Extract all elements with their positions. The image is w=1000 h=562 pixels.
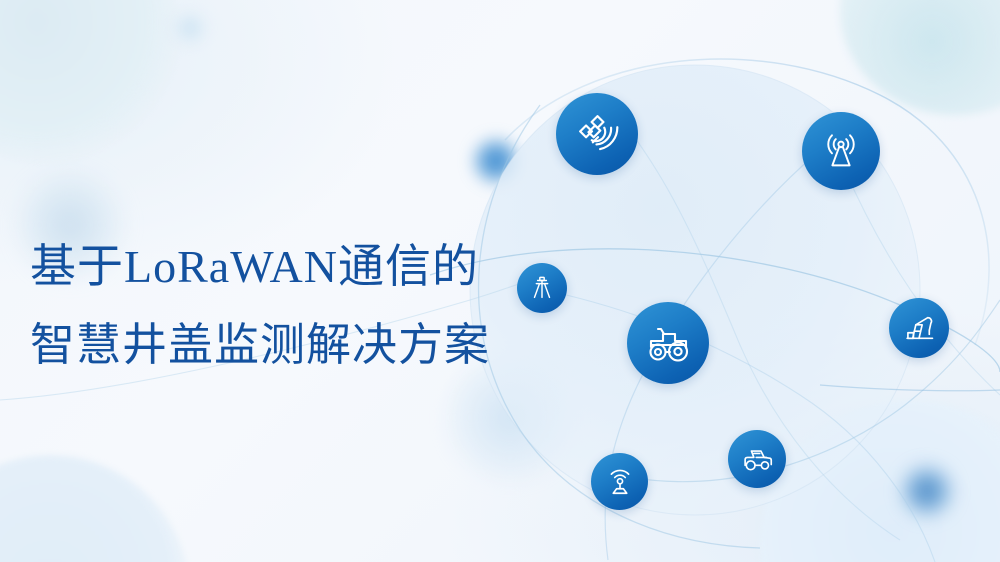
node-oil-pump[interactable] [889, 298, 949, 358]
slide-canvas: 基于LoRaWAN通信的 智慧井盖监测解决方案 [0, 0, 1000, 562]
node-antenna-tower[interactable] [802, 112, 880, 190]
tractor-icon [642, 317, 694, 369]
node-satellite[interactable] [556, 93, 638, 175]
title-line-2: 智慧井盖监测解决方案 [30, 306, 590, 384]
satellite-icon [572, 109, 622, 159]
node-harvester[interactable] [728, 430, 786, 488]
node-signal-beacon[interactable] [591, 453, 648, 510]
signal-beacon-icon [602, 464, 638, 500]
title-block: 基于LoRaWAN通信的 智慧井盖监测解决方案 [30, 228, 590, 384]
harvester-icon [738, 440, 776, 478]
title-line-1: 基于LoRaWAN通信的 [30, 228, 590, 306]
oil-pump-icon [900, 309, 938, 347]
antenna-tower-icon [818, 128, 864, 174]
node-tractor[interactable] [627, 302, 709, 384]
